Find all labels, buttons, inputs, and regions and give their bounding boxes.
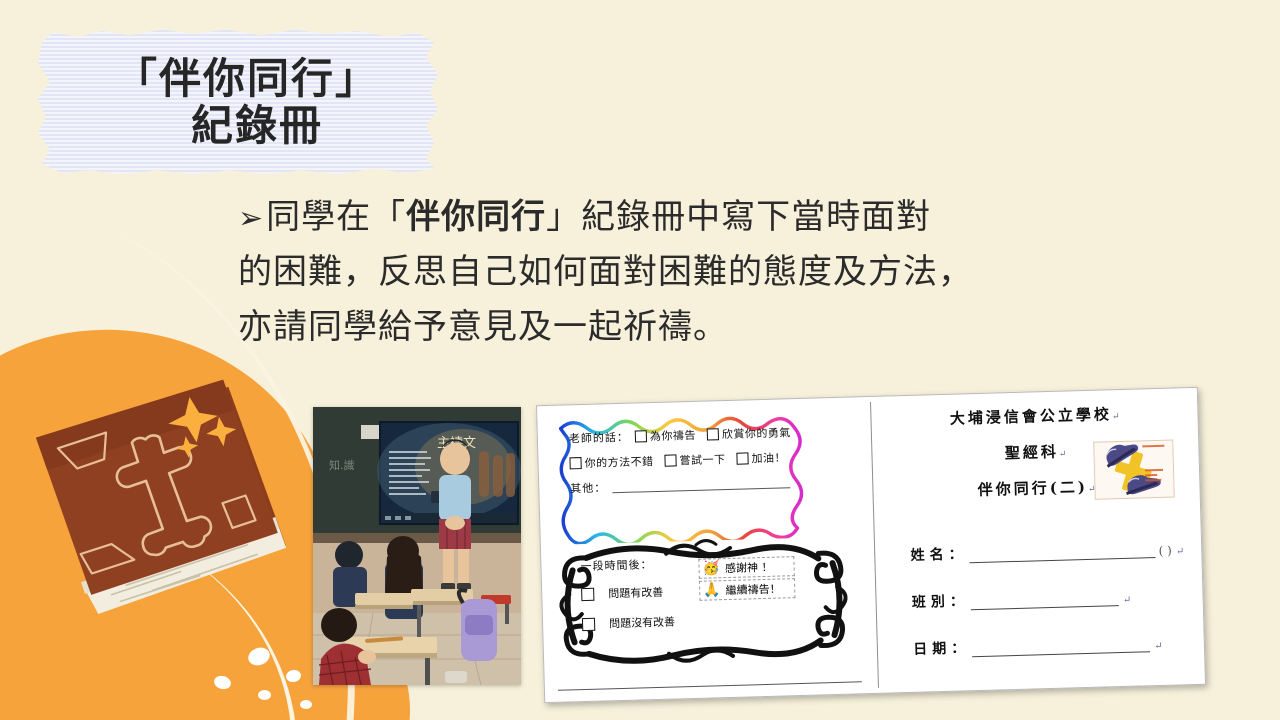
classroom-photo: 知.識 主禱文 (313, 407, 521, 685)
sticker-group: 🥳 感謝神 ！ 🙏 繼續禱告！ (698, 556, 795, 603)
pilcrow-mark: ↵ (1176, 546, 1185, 557)
bible-book-icon (10, 355, 310, 655)
option-label-try-once: 嘗試一下 (679, 454, 725, 466)
party-face-emoji-icon: 🥳 (702, 561, 720, 575)
label-problem-improved: 問題有改善 (608, 584, 663, 602)
field-class: 班別： ↵ (912, 584, 1186, 612)
pilcrow-mark: ↵ (1112, 412, 1120, 422)
title-text-block: 「伴你同行」 紀錄冊 (38, 28, 438, 176)
title-banner: 「伴你同行」 紀錄冊 (38, 28, 438, 176)
pilcrow-mark: ↵ (1059, 450, 1067, 460)
other-comment-row: 其他： (570, 475, 822, 494)
rainbow-wavy-frame: 老師的話： 為你禱告 欣賞你的勇氣 你的方法不錯 嘗試一下 加油！ (546, 409, 839, 545)
checkbox-admire-courage[interactable] (707, 428, 719, 440)
worksheet-fields: 姓名： ( ) ↵ 班別： ↵ 日期： ↵ (910, 537, 1188, 686)
pilcrow-mark: ↵ (1154, 641, 1163, 652)
sticker-keep-praying: 🙏 繼續禱告！ (699, 578, 796, 601)
other-label: 其他： (570, 482, 606, 494)
option-label-pray-for-you: 為你禱告 (650, 429, 696, 441)
field-label-date: 日期： (913, 637, 971, 659)
sticker-thank-god: 🥳 感謝神 ！ (698, 556, 795, 579)
school-name: 大埔浸信會公立學校↵ (871, 401, 1199, 431)
worksheet-right-panel: 大埔浸信會公立學校↵ 聖經科↵ 伴你同行(二)↵ (870, 387, 1206, 694)
option-label-admire-courage: 欣賞你的勇氣 (722, 427, 791, 440)
pilcrow-mark: ↵ (1123, 595, 1132, 606)
option-label-keep-going: 加油！ (751, 452, 786, 464)
decorative-dot (300, 700, 312, 709)
body-line1-a: 同學在「 (266, 197, 406, 237)
worksheet-bottom-rule (558, 681, 862, 690)
field-input-name[interactable] (969, 543, 1155, 563)
slide-root: 「伴你同行」 紀錄冊 ➢同學在「伴你同行」紀錄冊中寫下當時面對 的困難，反思自己… (0, 0, 1280, 720)
page-title-line1: 「伴你同行」 (115, 55, 379, 102)
decorative-dot (285, 669, 302, 683)
field-label-name: 姓名： (910, 543, 968, 565)
bullet-arrow-icon: ➢ (238, 201, 264, 236)
checkbox-problem-improved[interactable] (581, 587, 594, 600)
field-label-class: 班別： (912, 590, 970, 612)
checkbox-keep-going[interactable] (736, 452, 748, 464)
field-paren-name: ( ) (1158, 544, 1172, 558)
field-name: 姓名： ( ) ↵ (910, 537, 1184, 565)
worksheet-document: 老師的話： 為你禱告 欣賞你的勇氣 你的方法不錯 嘗試一下 加油！ (536, 387, 1206, 703)
body-line-2: 的困難，反思自己如何面對困難的態度及方法， (238, 245, 1138, 300)
label-problem-not-improved: 問題沒有改善 (609, 614, 675, 632)
sticker-label-keep-praying: 繼續禱告！ (725, 581, 780, 599)
worksheet-left-panel: 老師的話： 為你禱告 欣賞你的勇氣 你的方法不錯 嘗試一下 加油！ (536, 396, 878, 703)
sticker-label-thank-god: 感謝神 ！ (725, 559, 773, 576)
checkbox-try-once[interactable] (664, 454, 676, 466)
decorative-dot (213, 674, 233, 691)
other-input-line[interactable] (612, 476, 790, 493)
body-line1-b: 」紀錄冊中寫下當時面對 (546, 197, 931, 237)
checkbox-pray-for-you[interactable] (635, 430, 647, 442)
booklet-name-text: 伴你同行(二) (978, 478, 1089, 499)
teacher-comment-label: 老師的話： (569, 431, 629, 444)
subject-name-text: 聖經科 (1005, 443, 1059, 463)
followup-row-not-improved: 問題沒有改善 (582, 609, 838, 632)
body-line-1: ➢同學在「伴你同行」紀錄冊中寫下當時面對 (238, 190, 1138, 245)
body-line1-emphasis: 伴你同行 (406, 197, 546, 237)
field-input-date[interactable] (972, 637, 1150, 657)
page-title-line2: 紀錄冊 (191, 102, 323, 149)
teacher-comment-row-2: 你的方法不錯 嘗試一下 加油！ (569, 450, 821, 469)
ornate-swirl-frame: 一段時間後： 問題有改善 問題沒有改善 🥳 感謝神 ！ (546, 535, 849, 671)
praying-person-emoji-icon: 🙏 (703, 583, 721, 597)
svg-text:知.識: 知.識 (329, 458, 355, 472)
checkbox-good-method[interactable] (569, 457, 581, 469)
field-input-class[interactable] (971, 591, 1119, 610)
checkbox-problem-not-improved[interactable] (582, 617, 595, 630)
body-paragraph: ➢同學在「伴你同行」紀錄冊中寫下當時面對 的困難，反思自己如何面對困難的態度及方… (238, 190, 1138, 355)
body-line-3: 亦請同學給予意見及一起祈禱。 (238, 300, 1138, 355)
shoes-cross-clipart-icon (1093, 440, 1175, 500)
decorative-dot (258, 690, 271, 700)
school-name-text: 大埔浸信會公立學校 (950, 405, 1112, 428)
field-date: 日期： ↵ (913, 631, 1187, 659)
teacher-comment-block: 老師的話： 為你禱告 欣賞你的勇氣 你的方法不錯 嘗試一下 加油！ (569, 425, 823, 507)
option-label-good-method: 你的方法不錯 (584, 456, 653, 469)
